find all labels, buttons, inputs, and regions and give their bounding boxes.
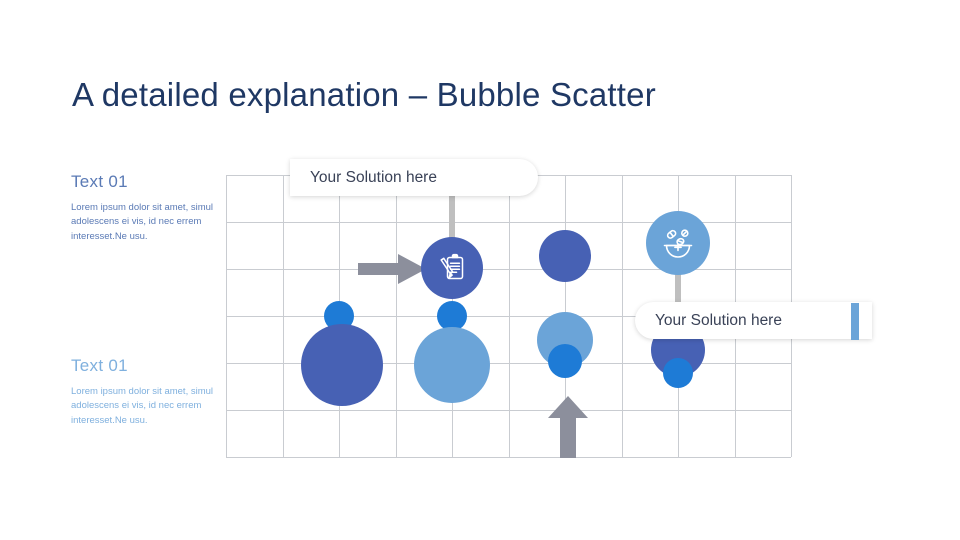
gridline-horizontal	[226, 222, 791, 223]
callout-your-solution-bottom[interactable]: Your Solution here	[635, 302, 872, 339]
chart-bubble	[414, 327, 490, 403]
callout-your-solution-top[interactable]: Your Solution here	[290, 159, 538, 196]
icon-bubble-clipboard[interactable]	[421, 237, 483, 299]
gridline-horizontal	[226, 410, 791, 411]
text-block-2-body: Lorem ipsum dolor sit amet, simul adoles…	[71, 385, 231, 429]
gridline-horizontal	[226, 269, 791, 270]
text-block-1-body: Lorem ipsum dolor sit amet, simul adoles…	[71, 201, 231, 245]
icon-bubble-medicine[interactable]	[646, 211, 710, 275]
gridline-horizontal	[226, 457, 791, 458]
callout-top-label: Your Solution here	[310, 169, 437, 187]
medicine-bowl-pills-icon	[660, 225, 696, 261]
arrow-up-icon	[548, 396, 588, 458]
clipboard-pen-icon	[435, 251, 469, 285]
text-block-2: Text 01 Lorem ipsum dolor sit amet, simu…	[71, 357, 231, 429]
slide-canvas: A detailed explanation – Bubble Scatter …	[0, 0, 960, 540]
text-block-1-heading: Text 01	[71, 173, 231, 192]
arrow-right-icon	[358, 254, 426, 284]
page-title: A detailed explanation – Bubble Scatter	[72, 76, 656, 114]
text-block-1: Text 01 Lorem ipsum dolor sit amet, simu…	[71, 173, 231, 245]
callout-accent-bar	[851, 303, 859, 340]
text-block-2-heading: Text 01	[71, 357, 231, 376]
callout-bottom-label: Your Solution here	[655, 312, 782, 330]
chart-bubble	[301, 324, 383, 406]
chart-bubble	[548, 344, 582, 378]
chart-bubble	[663, 358, 693, 388]
chart-bubble	[539, 230, 591, 282]
